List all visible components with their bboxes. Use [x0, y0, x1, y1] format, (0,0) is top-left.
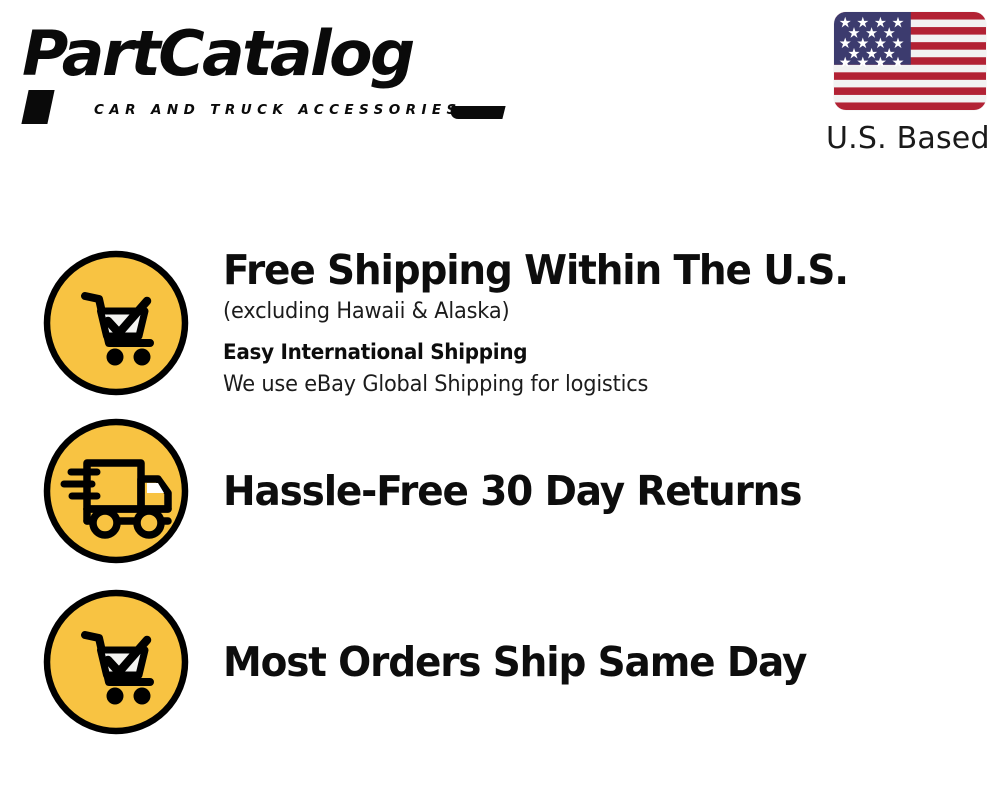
brand-tagline: CAR AND TRUCK ACCESSORIES: [94, 102, 462, 118]
feature-row: Hassle-Free 30 Day Returns: [0, 417, 1000, 565]
brand-logo[interactable]: PartCatalog CAR AND TRUCK ACCESSORIES: [22, 18, 492, 118]
feature-subtitle: Easy International Shipping: [223, 335, 961, 369]
shopping-cart-check-icon: [42, 588, 190, 736]
us-based-seller-badge: U.S. Based Seller: [826, 12, 986, 157]
shopping-cart-check-icon: [42, 249, 190, 397]
delivery-truck-icon: [42, 417, 190, 565]
feature-title: Free Shipping Within The U.S.: [223, 245, 961, 295]
feature-title: Most Orders Ship Same Day: [223, 637, 961, 687]
feature-text: Most Orders Ship Same Day: [223, 637, 1000, 687]
us-flag-icon: [834, 12, 986, 110]
logo-p-descender: [21, 90, 54, 124]
feature-row: Free Shipping Within The U.S. (excluding…: [0, 245, 1000, 401]
feature-title: Hassle-Free 30 Day Returns: [223, 466, 961, 516]
feature-note: (excluding Hawaii & Alaska): [223, 295, 961, 329]
brand-wordmark: PartCatalog: [22, 18, 413, 90]
page-header: PartCatalog CAR AND TRUCK ACCESSORIES: [0, 0, 1000, 175]
feature-row: Most Orders Ship Same Day: [0, 588, 1000, 736]
feature-text: Hassle-Free 30 Day Returns: [223, 466, 1000, 516]
feature-text: Free Shipping Within The U.S. (excluding…: [223, 245, 1000, 401]
feature-subnote: We use eBay Global Shipping for logistic…: [223, 369, 961, 401]
us-based-seller-label: U.S. Based Seller: [826, 121, 986, 157]
